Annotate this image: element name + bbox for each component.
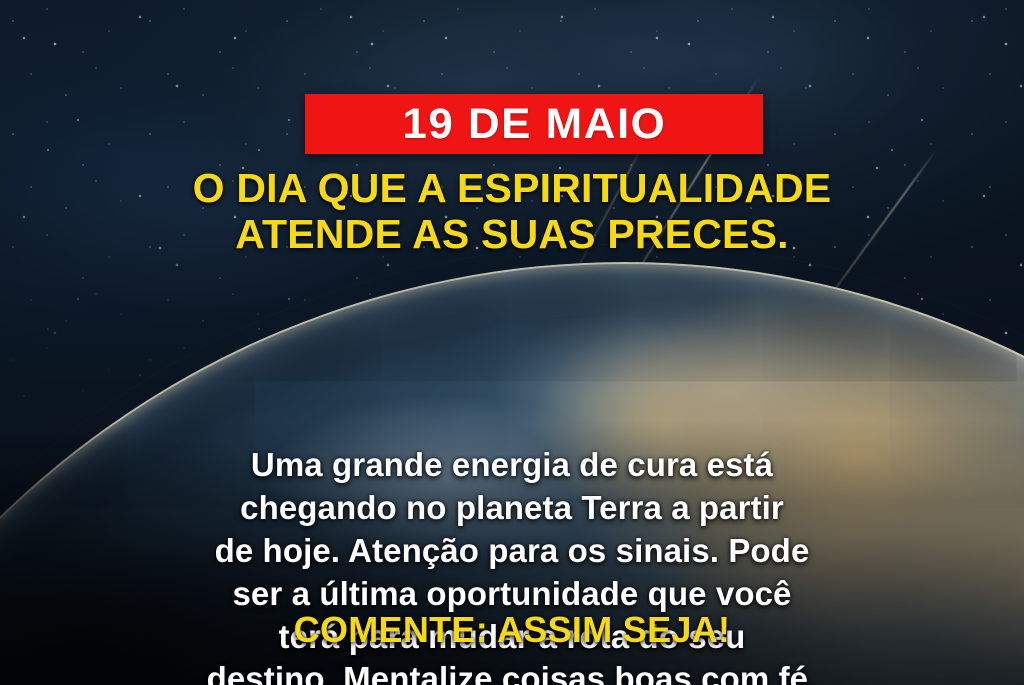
date-badge-label: 19 DE MAIO: [402, 103, 666, 146]
headline-line-1: O DIA QUE A ESPIRITUALIDADE: [0, 166, 1024, 212]
body-line-3: de hoje. Atenção para os sinais. Pode: [0, 530, 1024, 573]
poster-image: 19 DE MAIO O DIA QUE A ESPIRITUALIDADE A…: [0, 0, 1024, 685]
body-line-6: destino. Mentalize coisas boas com fé.: [0, 658, 1024, 685]
headline-line-2: ATENDE AS SUAS PRECES.: [0, 212, 1024, 258]
body-line-1: Uma grande energia de cura está: [0, 444, 1024, 487]
headline: O DIA QUE A ESPIRITUALIDADE ATENDE AS SU…: [0, 166, 1024, 258]
body-line-2: chegando no planeta Terra a partir: [0, 487, 1024, 530]
date-badge: 19 DE MAIO: [305, 94, 763, 154]
call-to-action-text: COMENTE: ASSIM SEJA!: [0, 612, 1024, 648]
poster-content: 19 DE MAIO O DIA QUE A ESPIRITUALIDADE A…: [0, 0, 1024, 685]
